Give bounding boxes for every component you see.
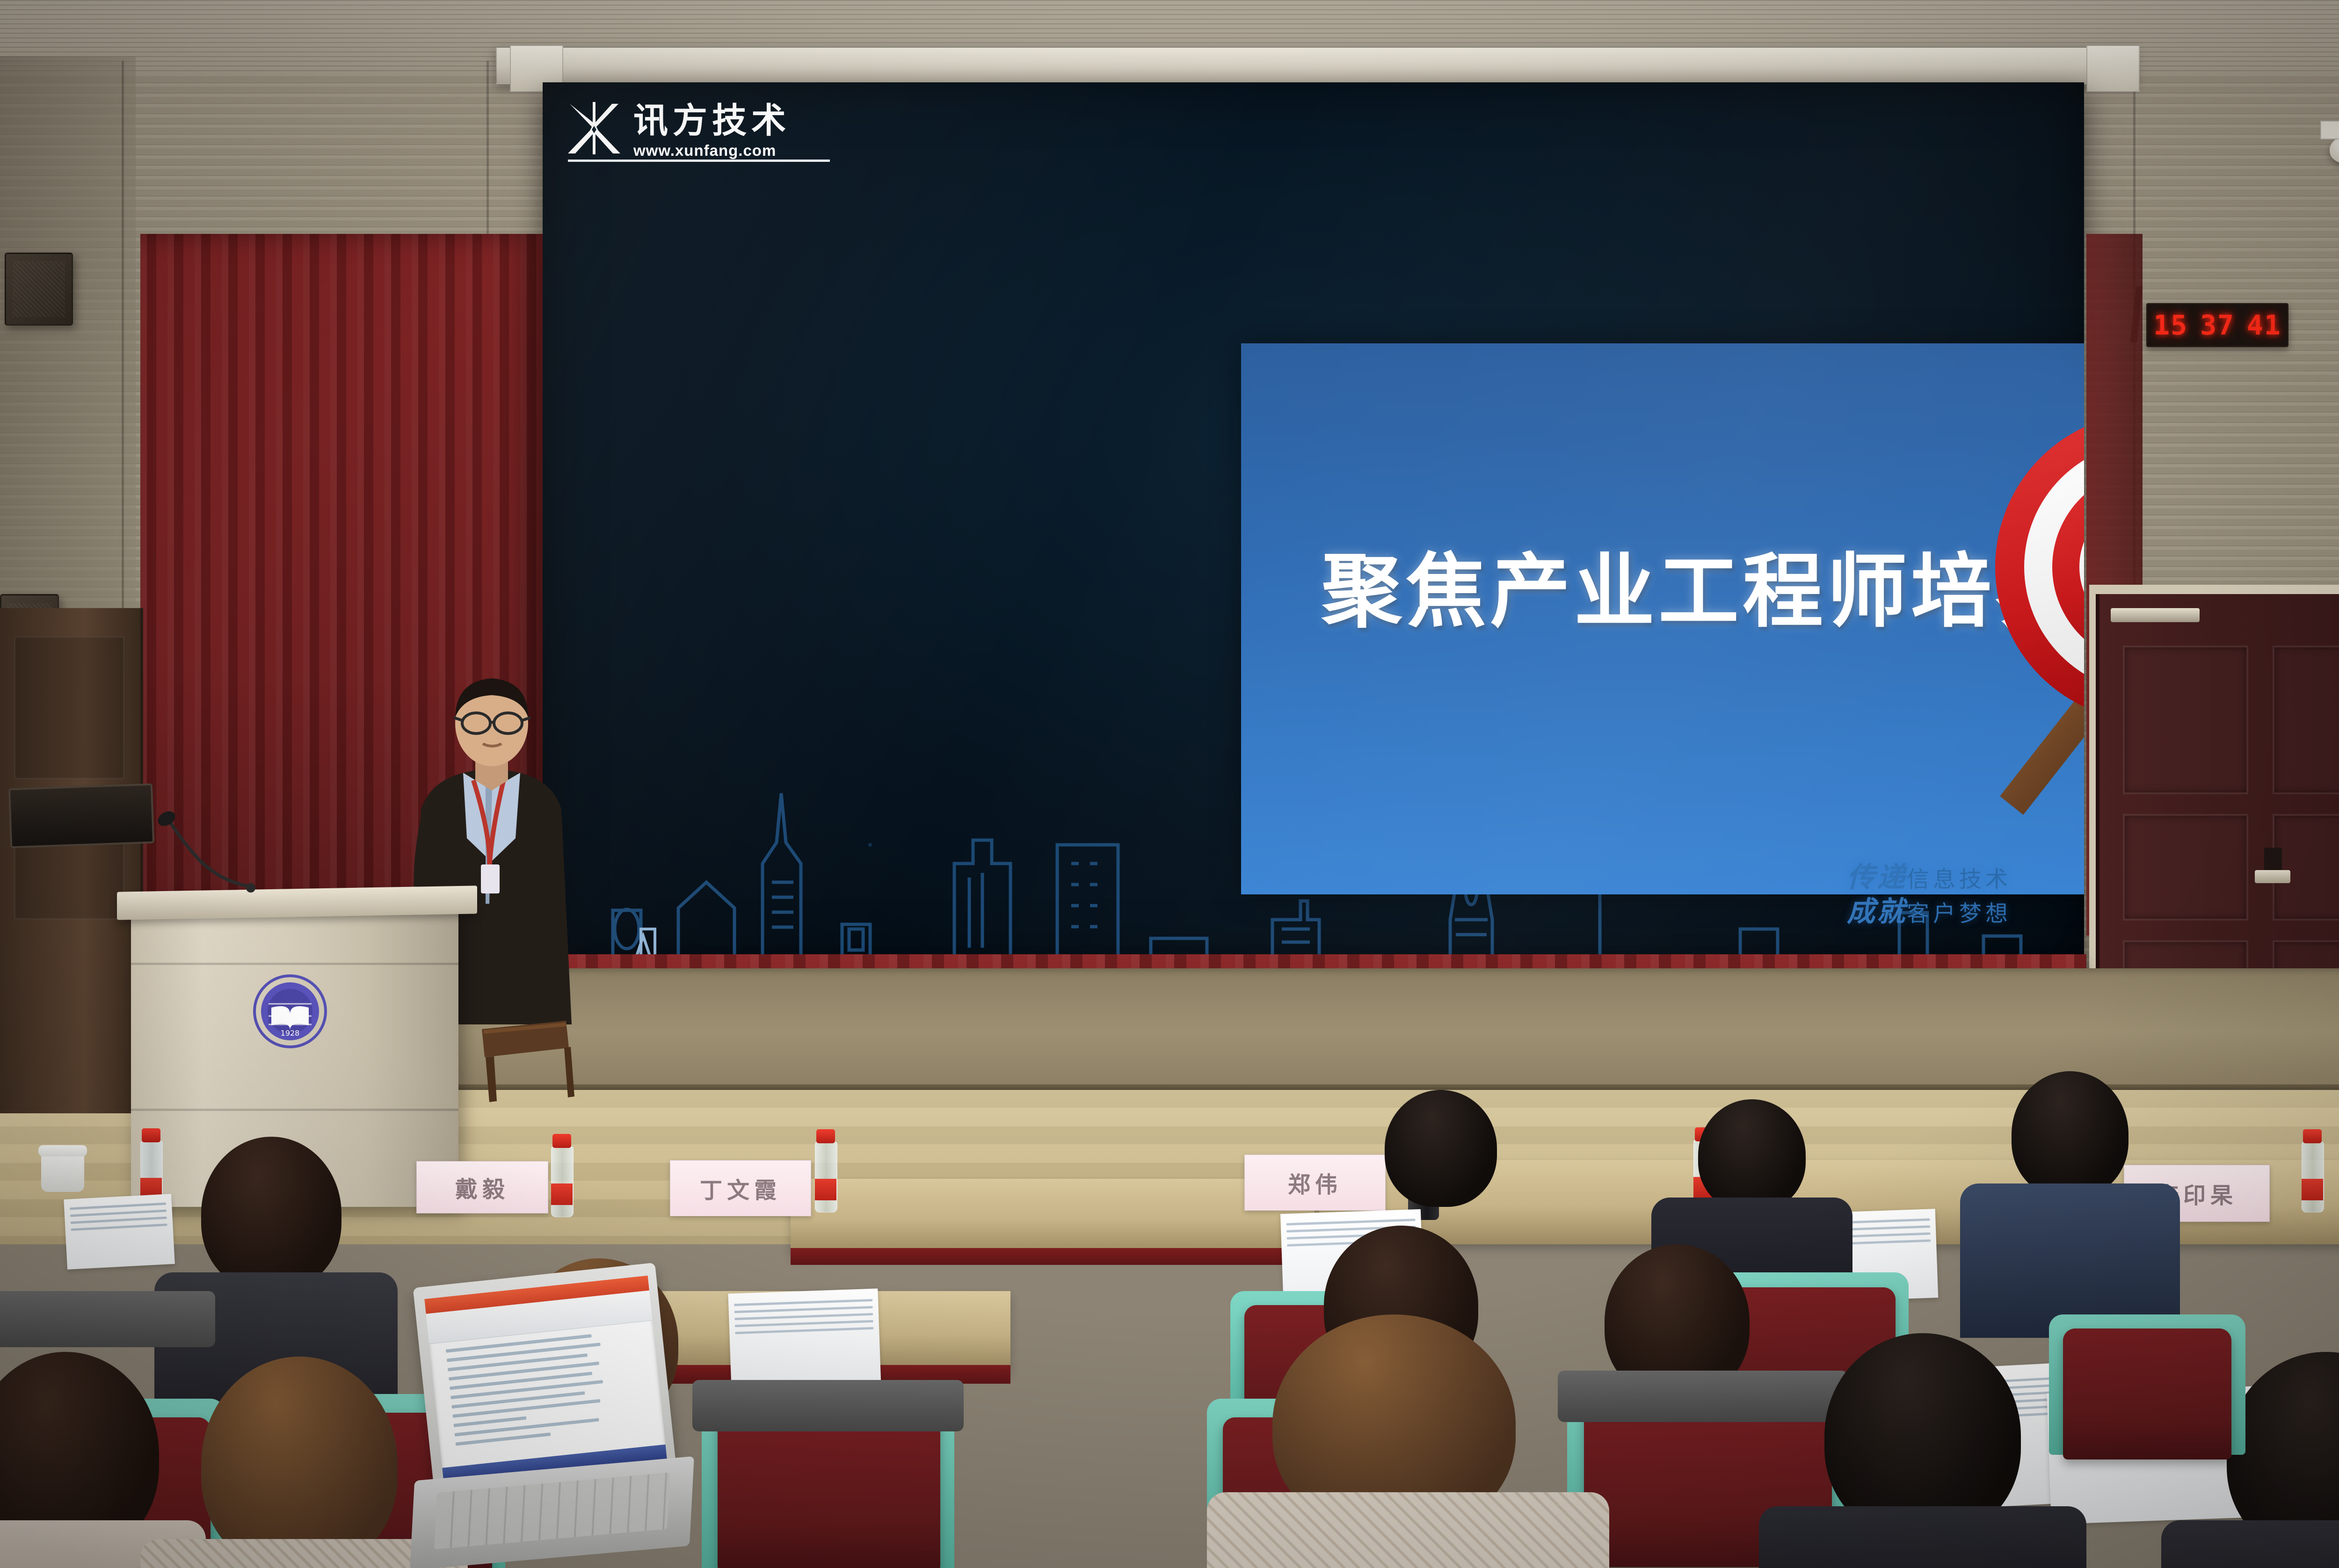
door-closer (2111, 608, 2200, 622)
university-seal-icon: 1928 (253, 974, 327, 1049)
audience-area: 戴毅 丁文霞 郑伟 李印杲 (0, 1071, 2339, 1568)
audience-body (1207, 1492, 1609, 1568)
bottle-cap (142, 1128, 160, 1142)
seal-year: 1928 (281, 1029, 300, 1038)
desk-row (791, 1179, 1315, 1254)
audience-head (1698, 1099, 1806, 1212)
clock-hours: 15 (2153, 309, 2188, 341)
seat-armrest (1558, 1371, 1848, 1422)
water-bottle (551, 1146, 574, 1217)
audience-body (2161, 1520, 2339, 1568)
brand-name-cn: 讯方技术 (633, 103, 791, 138)
bottle-cap (552, 1134, 571, 1148)
door-panel (2273, 646, 2339, 794)
av-equipment-cabinet (0, 608, 143, 1113)
nameplate: 丁文霞 (670, 1160, 811, 1216)
door-handle[interactable] (2255, 870, 2290, 883)
laptop-screen (424, 1276, 667, 1485)
microphone (154, 795, 257, 893)
audience-head (2012, 1071, 2128, 1198)
bottle-label (815, 1179, 836, 1200)
brand-underline (568, 160, 830, 162)
handout (64, 1194, 175, 1270)
projector-screen-housing (496, 47, 2135, 84)
cup-lid (38, 1145, 87, 1156)
slogan-line2-bold: 成就 (1847, 895, 1907, 928)
slide-content-panel: 聚焦产业工程师培养 (1241, 343, 2084, 894)
wall-seam (487, 61, 489, 257)
ceiling-mount (2320, 121, 2339, 139)
cabinet-panel (14, 636, 124, 779)
bottle-label (2302, 1179, 2323, 1200)
company-slogan: 传递信息技术 成就客户梦想 (1847, 861, 2012, 929)
screen-bracket-right (2086, 45, 2140, 92)
clock-minutes: 37 (2200, 309, 2235, 341)
auditorium-scene: 讯方技术 www.xunfang.com (0, 0, 2339, 1568)
lectern-seam (131, 963, 458, 965)
slogan-line1-rest: 信息技术 (1907, 866, 2012, 893)
nameplate: 戴毅 (416, 1161, 548, 1213)
bottle-cap (2303, 1129, 2322, 1143)
slogan-line2-rest: 客户梦想 (1907, 900, 2012, 927)
audience-head (201, 1137, 341, 1291)
seat-armrest (0, 1291, 215, 1347)
seat-armrest (692, 1380, 964, 1431)
slogan-line1-bold: 传递 (1847, 861, 1907, 894)
xunfang-mark-icon (566, 98, 621, 158)
bottle-cap (816, 1129, 835, 1143)
university-seal: 1928 (253, 974, 327, 1049)
laptop-document-body (445, 1333, 616, 1461)
led-clock: 15 37 41 (2146, 303, 2288, 347)
clock-seconds: 41 (2247, 309, 2281, 341)
bottle-label (551, 1183, 573, 1205)
bullseye-target-icon (1944, 366, 2084, 880)
water-bottle (2302, 1141, 2324, 1212)
projection-screen: 讯方技术 www.xunfang.com (543, 82, 2084, 966)
nameplate: 郑伟 (1244, 1154, 1386, 1211)
target-graphic (1944, 366, 2084, 880)
stage-monitor (8, 784, 154, 849)
brand-logo: 讯方技术 www.xunfang.com (561, 92, 803, 163)
brand-website: www.xunfang.com (633, 143, 791, 158)
door-panel (2273, 814, 2339, 921)
handout (728, 1288, 881, 1392)
auditorium-seat (718, 1412, 940, 1568)
audience-body (1759, 1506, 2086, 1568)
audience-head (1385, 1090, 1497, 1207)
desk-edge (791, 1248, 1315, 1265)
wall-speaker (5, 253, 73, 326)
auditorium-seat (2063, 1328, 2231, 1459)
door-panel (2123, 814, 2248, 921)
audience-head (201, 1357, 398, 1568)
water-bottle (815, 1141, 837, 1212)
paper-cup (41, 1152, 84, 1192)
microphone-icon (154, 795, 257, 893)
door-panel (2123, 646, 2248, 794)
